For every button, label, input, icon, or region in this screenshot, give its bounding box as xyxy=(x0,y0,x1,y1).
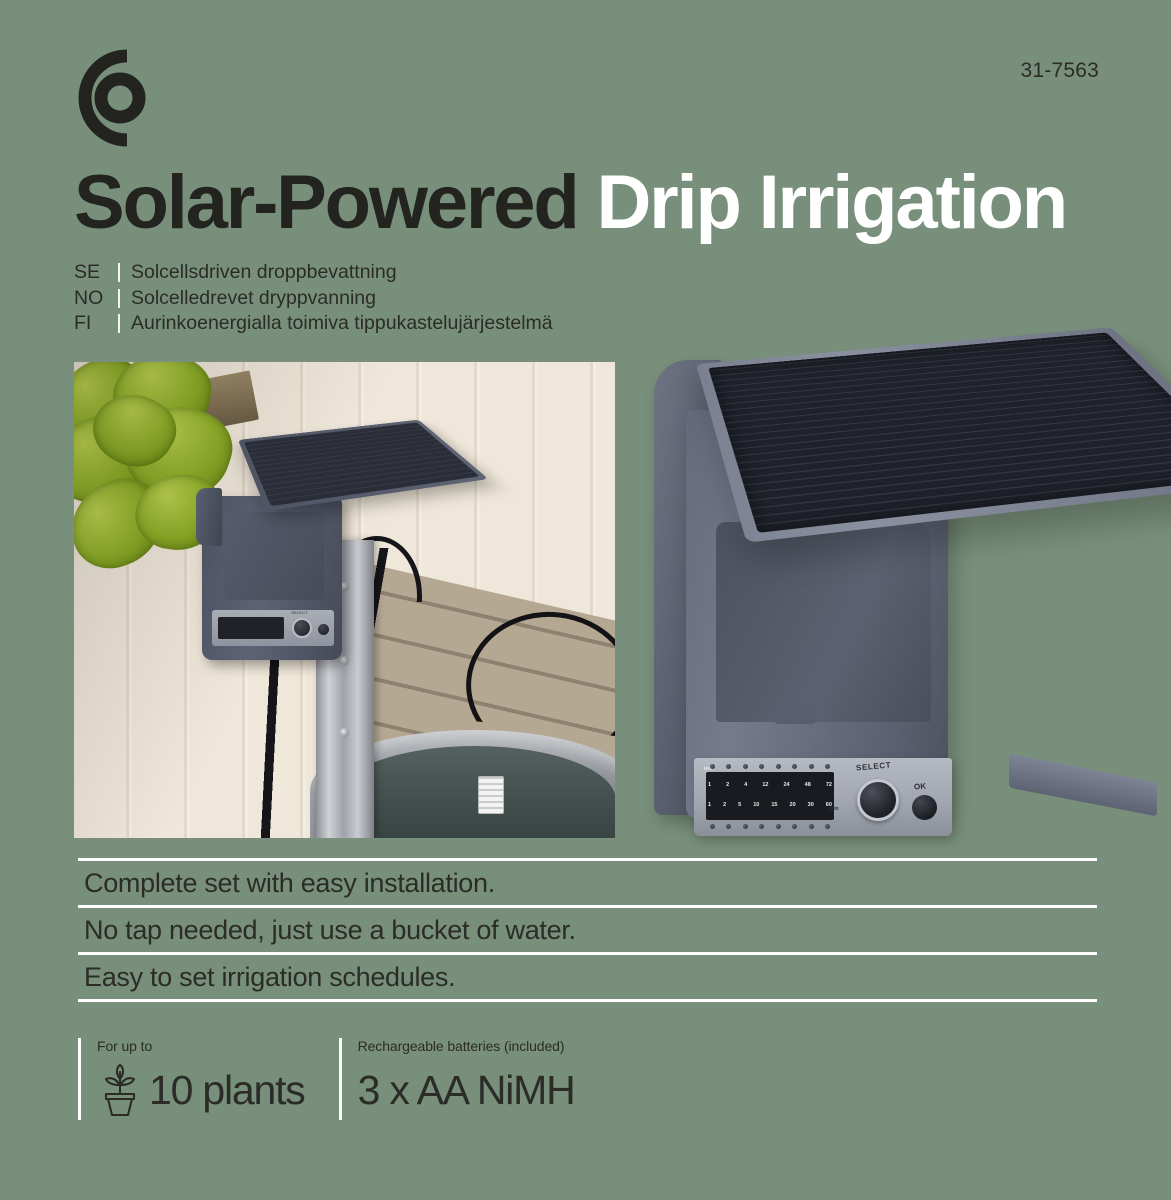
spec-strip: For up to 10 plants xyxy=(78,1038,575,1120)
led-indicator xyxy=(710,824,715,829)
render-body-notch xyxy=(774,704,816,724)
led-indicator xyxy=(809,764,814,769)
hours-value: 48 xyxy=(805,782,811,788)
render-solar-panel xyxy=(696,327,1171,543)
minutes-value: 15 xyxy=(771,802,777,808)
minutes-value: 10 xyxy=(753,802,759,808)
led-indicator xyxy=(759,764,764,769)
led-indicator xyxy=(825,764,830,769)
select-dial[interactable] xyxy=(857,779,899,821)
mounted-controller: SELECT xyxy=(192,440,432,680)
language-text: Aurinkoenergialla toimiva tippukastelujä… xyxy=(131,311,553,337)
led-indicator xyxy=(792,764,797,769)
language-text: Solcellsdriven droppbevattning xyxy=(131,260,397,286)
hours-value: 4 xyxy=(744,782,747,788)
product-render: 1 2 4 12 24 48 72 1 2 5 10 15 20 30 60 H… xyxy=(636,358,1151,840)
controller-body: SELECT xyxy=(202,496,342,660)
title-primary: Solar-Powered xyxy=(74,160,578,245)
controller-led-strip xyxy=(218,617,284,639)
select-label: SELECT xyxy=(856,760,892,772)
ok-label: OK xyxy=(914,781,927,791)
feature-item: No tap needed, just use a bucket of wate… xyxy=(78,908,1097,952)
minutes-scale-labels: 1 2 5 10 15 20 30 60 xyxy=(708,802,832,808)
controller-hinge xyxy=(196,488,222,546)
minutes-value: 2 xyxy=(723,802,726,808)
spec-value: 3 x AA NiMH xyxy=(358,1067,575,1114)
minutes-value: 30 xyxy=(808,802,814,808)
hours-value: 1 xyxy=(708,782,711,788)
render-control-panel: 1 2 4 12 24 48 72 1 2 5 10 15 20 30 60 H… xyxy=(694,758,952,836)
render-solar-lip xyxy=(1009,754,1157,817)
render-led-strip: 1 2 4 12 24 48 72 1 2 5 10 15 20 30 60 xyxy=(706,772,834,820)
language-row: FI Aurinkoenergialla toimiva tippukastel… xyxy=(74,311,553,337)
hours-value: 24 xyxy=(784,782,790,788)
led-indicator xyxy=(825,824,830,829)
led-indicator xyxy=(759,824,764,829)
led-indicator xyxy=(776,824,781,829)
led-row-top xyxy=(710,764,830,769)
feature-item: Complete set with easy installation. xyxy=(78,861,1097,905)
brand-logo-icon xyxy=(72,48,150,148)
spec-label: Rechargeable batteries (included) xyxy=(358,1038,575,1060)
led-indicator xyxy=(726,824,731,829)
hours-scale-labels: 1 2 4 12 24 48 72 xyxy=(708,782,832,788)
minutes-value: 20 xyxy=(790,802,796,808)
render-solar-cells xyxy=(708,332,1171,532)
article-number: 31-7563 xyxy=(1021,59,1099,83)
minutes-value: 5 xyxy=(738,802,741,808)
spec-label: For up to xyxy=(97,1038,305,1060)
spec-batteries: Rechargeable batteries (included) 3 x AA… xyxy=(339,1038,575,1120)
language-code: NO xyxy=(74,286,118,312)
led-indicator xyxy=(726,764,731,769)
controller-recess xyxy=(224,512,324,600)
title-secondary: Drip Irrigation xyxy=(596,160,1065,245)
hours-value: 2 xyxy=(726,782,729,788)
language-row: SE Solcellsdriven droppbevattning xyxy=(74,260,553,286)
spec-value: 10 plants xyxy=(149,1067,305,1114)
language-row: NO Solcelledrevet dryppvanning xyxy=(74,286,553,312)
language-divider xyxy=(118,289,120,308)
ok-button[interactable] xyxy=(318,624,329,635)
led-indicator xyxy=(743,764,748,769)
led-indicator xyxy=(776,764,781,769)
led-indicator xyxy=(710,764,715,769)
page-title: Solar-Powered Drip Irrigation xyxy=(74,165,1066,241)
minutes-value: 1 xyxy=(708,802,711,808)
divider xyxy=(78,999,1097,1002)
led-indicator xyxy=(743,824,748,829)
language-subtitles: SE Solcellsdriven droppbevattning NO Sol… xyxy=(74,260,553,337)
ok-button[interactable] xyxy=(912,795,937,820)
feature-list: Complete set with easy installation. No … xyxy=(78,858,1097,1002)
language-code: FI xyxy=(74,311,118,337)
language-divider xyxy=(118,314,120,333)
led-indicator xyxy=(809,824,814,829)
hours-value: 12 xyxy=(762,782,768,788)
minutes-unit-label: Min xyxy=(830,806,839,812)
render-body-recess xyxy=(716,522,931,722)
potted-plant-icon xyxy=(97,1063,143,1117)
packaging-header: 31-7563 Solar-Powered Drip Irrigation SE… xyxy=(0,0,1171,345)
feature-item: Easy to set irrigation schedules. xyxy=(78,955,1097,999)
led-row-bottom xyxy=(710,824,830,829)
select-dial[interactable] xyxy=(292,618,312,638)
hours-value: 72 xyxy=(826,782,832,788)
language-text: Solcelledrevet dryppvanning xyxy=(131,286,376,312)
language-divider xyxy=(118,263,120,282)
controller-control-panel: SELECT xyxy=(212,610,334,646)
select-label-small: SELECT xyxy=(291,610,308,615)
lifestyle-photo: SELECT xyxy=(74,362,615,838)
language-code: SE xyxy=(74,260,118,286)
led-indicator xyxy=(792,824,797,829)
spec-plants: For up to 10 plants xyxy=(78,1038,305,1120)
